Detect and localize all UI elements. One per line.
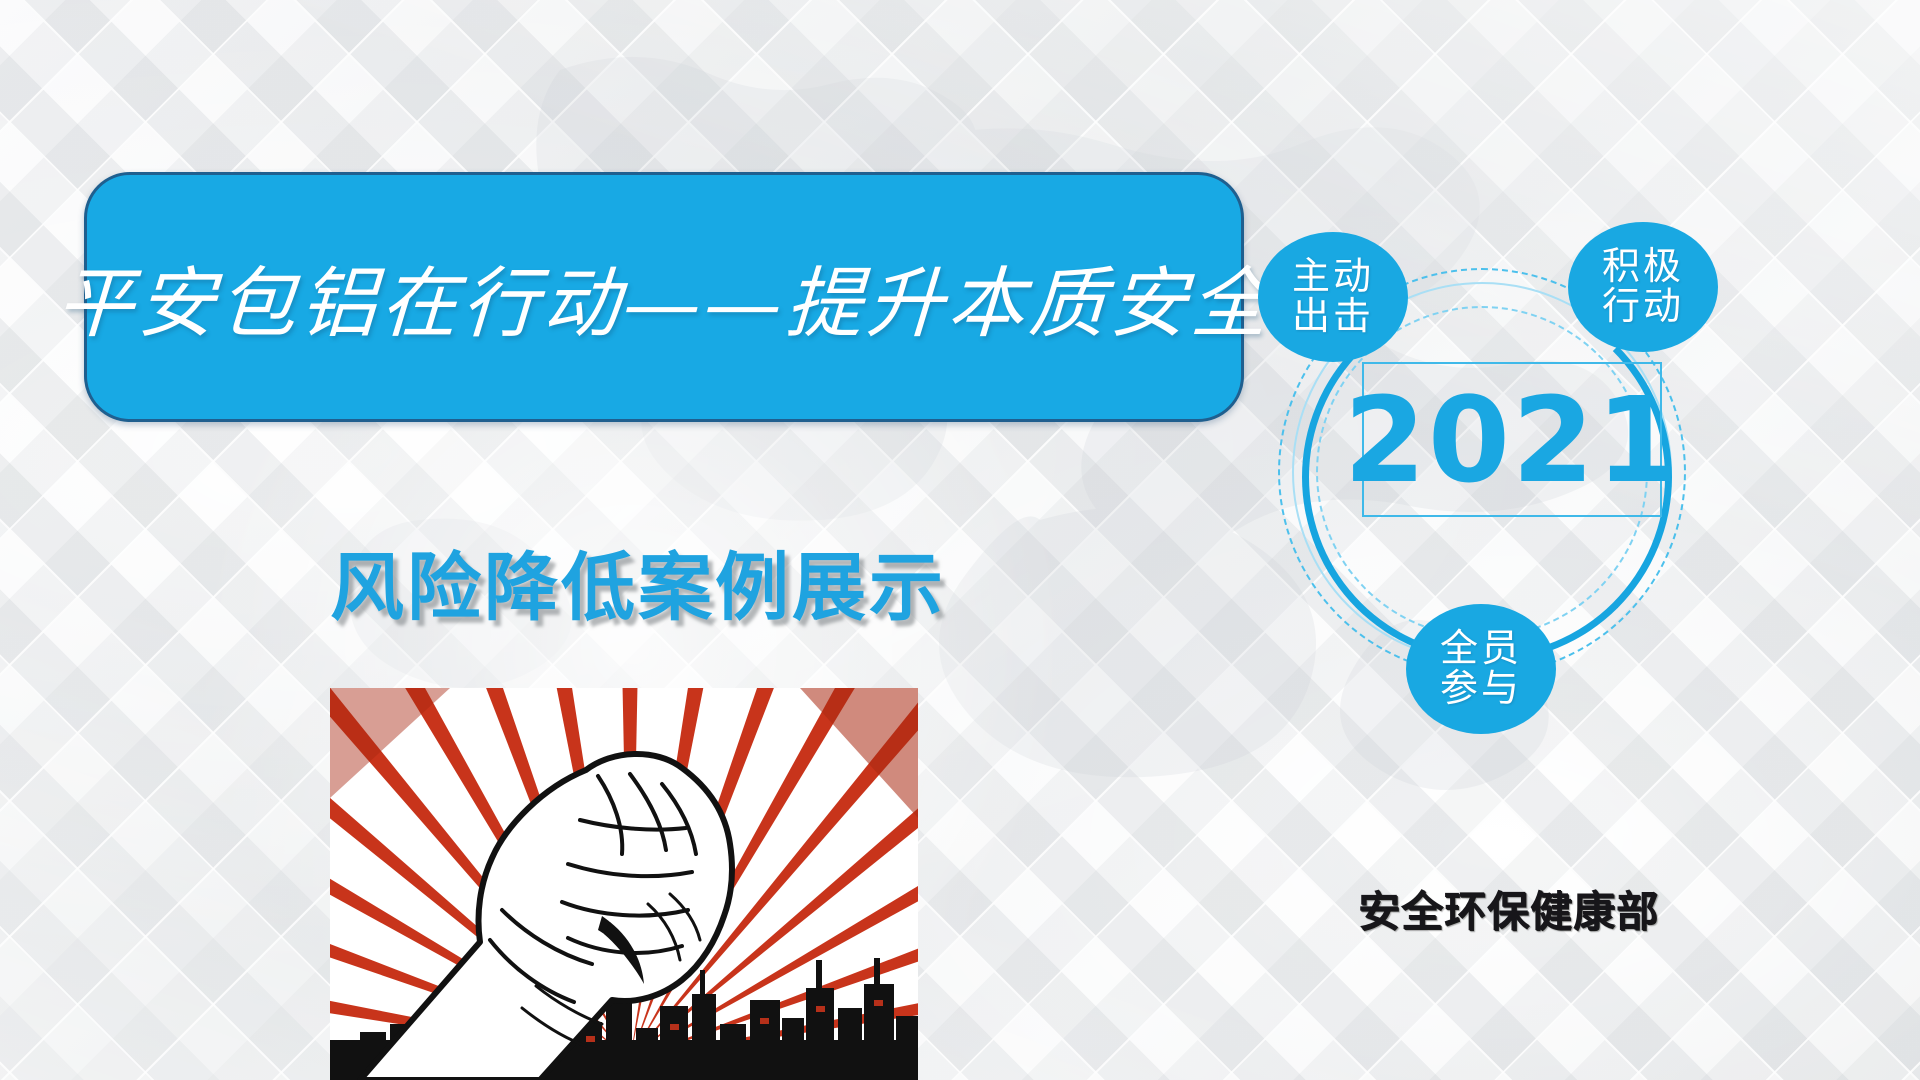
page-title: 平安包铝在行动——提升本质安全 bbox=[54, 242, 1275, 353]
bubble-line-2: 行动 bbox=[1602, 287, 1684, 327]
bubble-line-2: 参与 bbox=[1440, 669, 1522, 709]
bubble-line-2: 出击 bbox=[1292, 297, 1374, 337]
badge-bubble-proactive: 主动 出击 bbox=[1258, 232, 1408, 362]
badge-bubble-active-action: 积极 行动 bbox=[1568, 222, 1718, 352]
bubble-line-1: 积极 bbox=[1602, 247, 1684, 287]
department-label: 安全环保健康部 bbox=[1358, 878, 1659, 939]
subtitle: 风险降低案例展示 bbox=[330, 528, 946, 635]
year-badge-graphic: 2021 主动 出击 积极 行动 全员 参与 bbox=[1258, 262, 1708, 772]
year-label: 2021 bbox=[1344, 381, 1680, 499]
raised-fist-illustration bbox=[330, 688, 918, 1080]
badge-bubble-full-participation: 全员 参与 bbox=[1406, 604, 1556, 734]
year-box: 2021 bbox=[1362, 362, 1662, 517]
bubble-line-1: 全员 bbox=[1440, 629, 1522, 669]
presentation-slide: 平安包铝在行动——提升本质安全 风险降低案例展示 bbox=[0, 0, 1920, 1080]
bubble-line-1: 主动 bbox=[1292, 257, 1374, 297]
title-banner: 平安包铝在行动——提升本质安全 bbox=[84, 172, 1244, 422]
